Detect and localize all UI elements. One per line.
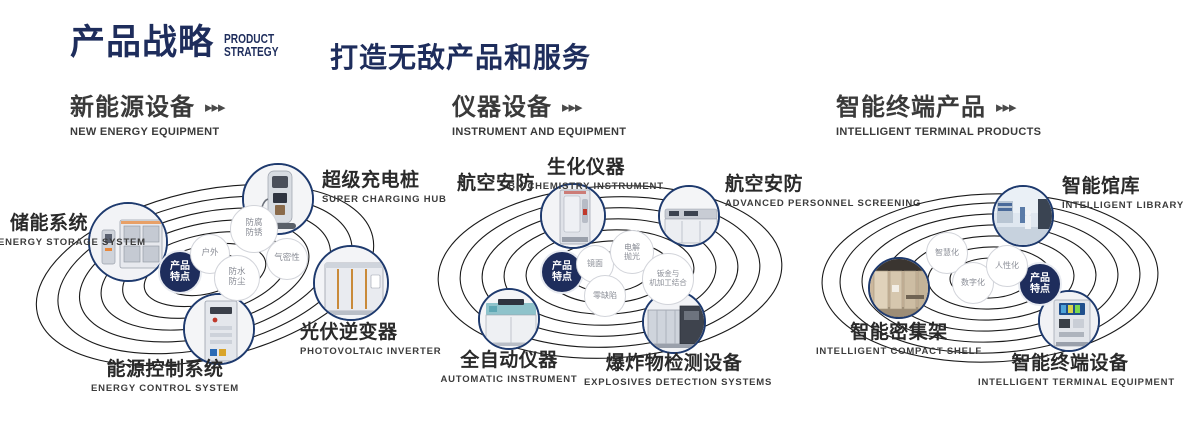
automatic-instrument-photo — [480, 290, 538, 348]
feature-bubble-sheetmetal-machining: 钣金与机加工结合 — [642, 253, 694, 305]
node-label-en: EXPLOSIVES DETECTION SYSTEMS — [584, 377, 764, 389]
node-label-cn: 智能馆库 — [1062, 176, 1184, 197]
chevron-right-triple-icon: ▸▸▸ — [205, 98, 225, 116]
node-label-automatic-instrument: 全自动仪器 AUTOMATIC INSTRUMENT — [419, 350, 599, 386]
node-label-cn: 智能密集架 — [810, 322, 988, 343]
node-label-en: INTELLIGENT TERMINAL EQUIPMENT — [978, 377, 1162, 389]
page-title-english: PRODUCT STRATEGY — [224, 32, 278, 58]
feature-text: 人性化 — [995, 261, 1019, 270]
node-label-energy-control-system: 能源控制系统 ENERGY CONTROL SYSTEM — [55, 359, 275, 395]
section-title-cn: 新能源设备 — [70, 95, 195, 119]
chevron-right-triple-icon: ▸▸▸ — [996, 98, 1016, 116]
page-subtitle: 打造无敌产品和服务 — [330, 36, 591, 76]
section-title-cn: 智能终端产品 — [836, 95, 986, 119]
node-label-en: INTELLIGENT COMPACT SHELF — [810, 346, 988, 358]
node-label-intelligent-library: 智能馆库 INTELLIGENT LIBRARY — [1062, 176, 1184, 212]
node-bubble-intelligent-library[interactable] — [992, 185, 1054, 247]
energy-control-cabinet-photo — [185, 295, 253, 363]
feature-text: 气密性 — [274, 254, 300, 264]
node-label-en: INTELLIGENT LIBRARY — [1062, 200, 1184, 212]
feature-text: 镜面 — [587, 259, 603, 268]
intelligent-library-room-photo — [994, 187, 1052, 245]
node-label-cn: 能源控制系统 — [55, 359, 275, 380]
feature-text: 防腐防锈 — [245, 219, 262, 239]
biochemistry-instrument-photo — [542, 185, 604, 247]
page-title-english-line2: STRATEGY — [224, 45, 278, 58]
node-bubble-photovoltaic-inverter[interactable] — [313, 245, 389, 321]
section-heading-instrument: 仪器设备 ▸▸▸ INSTRUMENT AND EQUIPMENT — [452, 95, 626, 138]
node-label-energy-storage: 储能系统 ENERGY STORAGE SYSTEM — [0, 213, 88, 249]
feature-text: 数字化 — [961, 278, 985, 287]
cluster-new-energy: 储能系统 ENERGY STORAGE SYSTEM 超级充电桩 SUPER C… — [0, 150, 420, 410]
node-label-cn: 储能系统 — [0, 213, 88, 234]
cluster-intelligent-terminal: 智能馆库 INTELLIGENT LIBRARY — [790, 150, 1200, 410]
poster-canvas: 产品战略 PRODUCT STRATEGY 打造无敌产品和服务 新能源设备 ▸▸… — [0, 0, 1200, 422]
node-bubble-compact-shelf[interactable] — [868, 257, 930, 319]
section-title-en: INSTRUMENT AND EQUIPMENT — [452, 126, 626, 138]
feature-text: 电解抛光 — [624, 243, 640, 261]
photovoltaic-inverter-photo — [315, 247, 387, 319]
node-label-terminal-kiosk: 智能终端设备 INTELLIGENT TERMINAL EQUIPMENT — [978, 353, 1162, 389]
node-label-en: ENERGY CONTROL SYSTEM — [55, 383, 275, 395]
core-badge-text: 产品特点 — [1030, 273, 1050, 295]
node-label-biochemistry-instrument: 生化仪器 BIOCHEMISTRY INSTRUMENT — [496, 157, 676, 193]
node-label-cn: 智能终端设备 — [978, 353, 1162, 374]
feature-bubble-zero-defect: 零缺陷 — [584, 275, 626, 317]
node-label-en: AUTOMATIC INSTRUMENT — [419, 374, 599, 386]
feature-bubble-airtightness: 气密性 — [266, 238, 308, 280]
section-heading-intelligent-terminal: 智能终端产品 ▸▸▸ INTELLIGENT TERMINAL PRODUCTS — [836, 95, 1041, 138]
personnel-screening-machine-photo — [660, 187, 718, 245]
node-label-compact-shelf: 智能密集架 INTELLIGENT COMPACT SHELF — [810, 322, 988, 358]
core-badge-text: 产品特点 — [552, 261, 572, 283]
feature-text: 户外 — [201, 249, 218, 259]
section-title-cn: 仪器设备 — [452, 95, 552, 119]
intelligent-compact-shelf-photo — [870, 259, 928, 317]
node-label-en: BIOCHEMISTRY INSTRUMENT — [496, 181, 676, 193]
feature-bubble-waterproof-dustproof: 防水防尘 — [214, 255, 260, 301]
node-label-cn: 全自动仪器 — [419, 350, 599, 371]
section-title-en: NEW ENERGY EQUIPMENT — [70, 126, 225, 138]
core-badge-text: 产品特点 — [170, 261, 190, 283]
page-header: 产品战略 PRODUCT STRATEGY — [70, 26, 294, 61]
node-label-en: ENERGY STORAGE SYSTEM — [0, 237, 88, 249]
section-heading-new-energy: 新能源设备 ▸▸▸ NEW ENERGY EQUIPMENT — [70, 95, 225, 138]
node-label-cn: 生化仪器 — [496, 157, 676, 178]
node-bubble-personnel-screening[interactable] — [658, 185, 720, 247]
feature-text: 防水防尘 — [228, 268, 245, 288]
node-bubble-automatic-instrument[interactable] — [478, 288, 540, 350]
feature-text: 智慧化 — [935, 248, 959, 257]
feature-bubble-humanized: 人性化 — [986, 245, 1028, 287]
cluster-instrument: 航空安防 生化仪器 BIOCHEMISTRY INSTRUMENT — [400, 150, 820, 410]
node-label-explosives-detection: 爆炸物检测设备 EXPLOSIVES DETECTION SYSTEMS — [584, 353, 764, 389]
page-title: 产品战略 — [70, 26, 214, 61]
node-label-cn: 爆炸物检测设备 — [584, 353, 764, 374]
node-bubble-biochemistry-instrument[interactable] — [540, 183, 606, 249]
section-title-en: INTELLIGENT TERMINAL PRODUCTS — [836, 126, 1041, 138]
feature-text: 零缺陷 — [593, 291, 617, 300]
node-bubble-energy-control-system[interactable] — [183, 293, 255, 365]
chevron-right-triple-icon: ▸▸▸ — [562, 98, 582, 116]
feature-text: 钣金与机加工结合 — [649, 270, 687, 287]
